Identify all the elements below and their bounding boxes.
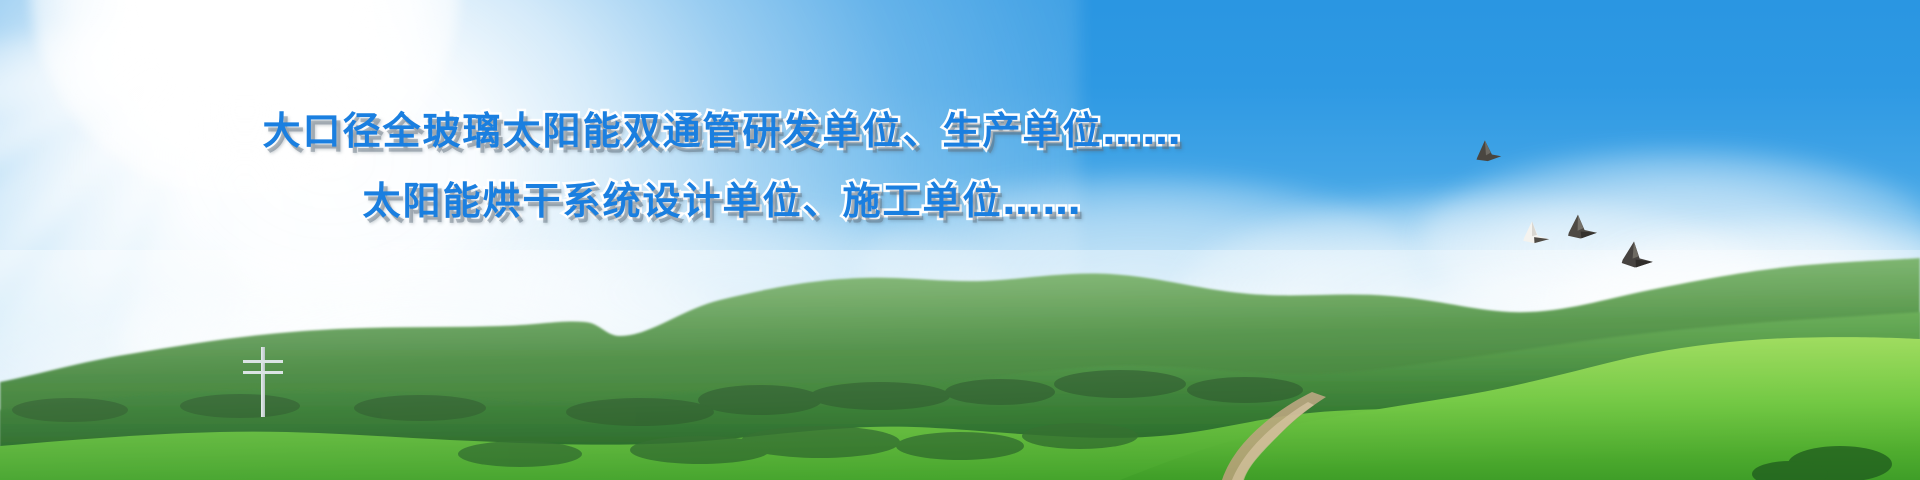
bird-icon [1474, 138, 1653, 268]
headline-line-1: 大口径全玻璃太阳能双通管研发单位、生产单位…… [0, 96, 1445, 166]
headline-line-2-text: 太阳能烘干系统设计单位、施工单位…… [362, 179, 1082, 223]
utility-pole [261, 347, 265, 417]
headline-line-1-text: 大口径全玻璃太阳能双通管研发单位、生产单位…… [262, 109, 1182, 153]
flying-birds [1455, 130, 1715, 290]
headline-line-2: 太阳能烘干系统设计单位、施工单位…… [0, 166, 1445, 236]
hero-banner: 大口径全玻璃太阳能双通管研发单位、生产单位…… 太阳能烘干系统设计单位、施工单位… [0, 0, 1920, 480]
headline-block: 大口径全玻璃太阳能双通管研发单位、生产单位…… 太阳能烘干系统设计单位、施工单位… [0, 96, 1445, 236]
